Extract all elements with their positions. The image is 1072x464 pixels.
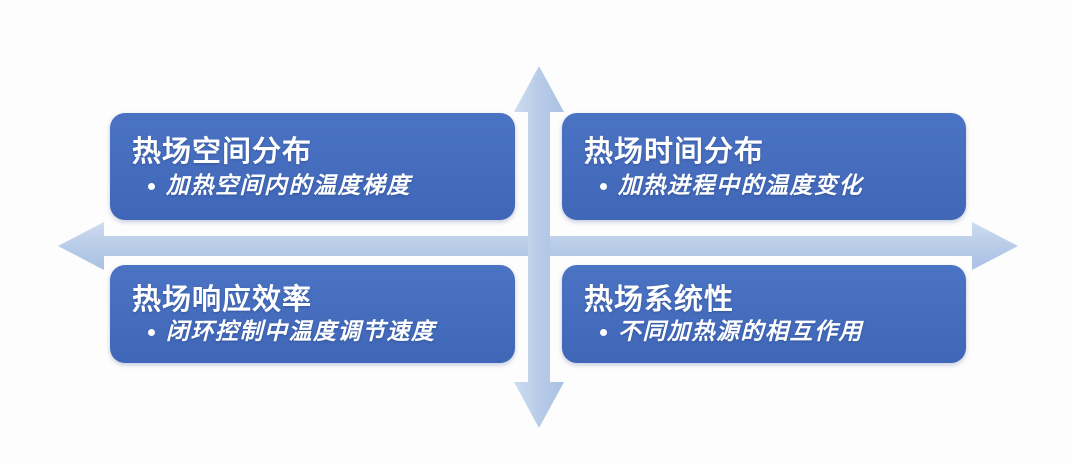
quadrant-description-bottom-left: 闭环控制中温度调节速度: [132, 319, 497, 345]
bullet-icon: [148, 183, 155, 190]
quadrant-description-text-top-right: 加热进程中的温度变化: [618, 173, 863, 199]
quadrant-description-text-bottom-left: 闭环控制中温度调节速度: [166, 319, 436, 345]
bullet-icon: [600, 183, 607, 190]
quadrant-title-bottom-right: 热场系统性: [584, 284, 948, 315]
vertical-axis-arrow: [514, 66, 564, 428]
quadrant-description-text-bottom-right: 不同加热源的相互作用: [618, 319, 863, 345]
quadrant-box-top-right[interactable]: 热场时间分布 加热进程中的温度变化: [562, 113, 966, 220]
bullet-icon: [148, 329, 155, 336]
diagram-canvas: 热场空间分布 加热空间内的温度梯度 热场时间分布 加热进程中的温度变化 热场响应…: [0, 0, 1072, 464]
quadrant-title-top-left: 热场空间分布: [132, 136, 497, 167]
quadrant-box-bottom-left[interactable]: 热场响应效率 闭环控制中温度调节速度: [110, 265, 515, 363]
quadrant-box-bottom-right[interactable]: 热场系统性 不同加热源的相互作用: [562, 265, 966, 363]
quadrant-description-text-top-left: 加热空间内的温度梯度: [166, 173, 411, 199]
quadrant-title-bottom-left: 热场响应效率: [132, 284, 497, 315]
quadrant-title-top-right: 热场时间分布: [584, 136, 948, 167]
quadrant-description-top-right: 加热进程中的温度变化: [584, 173, 948, 199]
quadrant-description-bottom-right: 不同加热源的相互作用: [584, 319, 948, 345]
quadrant-description-top-left: 加热空间内的温度梯度: [132, 173, 497, 199]
quadrant-box-top-left[interactable]: 热场空间分布 加热空间内的温度梯度: [110, 113, 515, 220]
bullet-icon: [600, 329, 607, 336]
